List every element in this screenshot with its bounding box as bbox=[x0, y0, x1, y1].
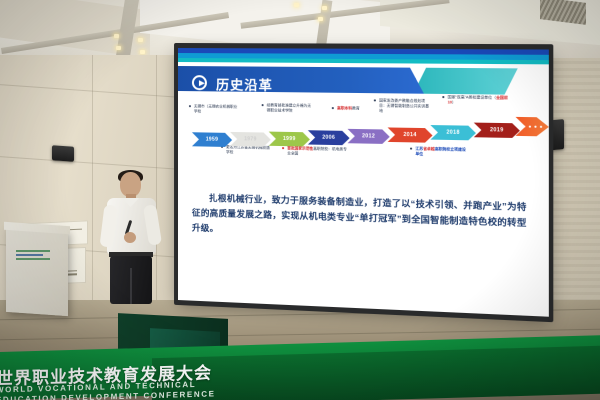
timeline-note-2019: 国家“双高”A类校建设单位（全国前10） bbox=[448, 95, 516, 107]
timeline-chevron-1959: 1959 bbox=[192, 132, 232, 147]
timeline: 无锡市（无锡农业机械职业学校 经教育部批准建立升格为无锡职业技术学院 高职本科教… bbox=[186, 102, 540, 166]
ceiling-light bbox=[138, 38, 143, 42]
timeline-chevron-2018: 2018 bbox=[430, 125, 476, 140]
conference-room-photo: 历史沿革 无锡市（无锡农业机械职业学校 经教育部批准建立升格为无锡职业技术学院 … bbox=[0, 0, 600, 400]
timeline-note-2014: 国家发改委产教融合规划项目：无锡智能制造公共实训基地 bbox=[379, 98, 430, 115]
timeline-note-1959: 无锡市（无锡农业机械职业学校 bbox=[194, 104, 240, 115]
timeline-note-2018: 江苏省卓越高职院校立项建设单位 bbox=[415, 147, 467, 159]
ceiling-light bbox=[116, 46, 121, 50]
wall-speaker bbox=[52, 145, 74, 162]
slide-canvas: 历史沿革 无锡市（无锡农业机械职业学校 经教育部批准建立升格为无锡职业技术学院 … bbox=[178, 48, 549, 317]
timeline-chevron-2006: 2006 bbox=[308, 130, 350, 145]
timeline-note-1979: 更名为江苏省无锡机械制造学校 bbox=[226, 145, 273, 156]
timeline-chevron-2012: 2012 bbox=[347, 129, 389, 144]
ceiling-light bbox=[114, 34, 119, 38]
timeline-end-marker bbox=[516, 117, 549, 137]
speaker-hand bbox=[124, 232, 136, 243]
slide-title: 历史沿革 bbox=[216, 74, 273, 94]
slide-body-paragraph: 扎根机械行业，致力于服务装备制造业，打造了以“技术引领、并跑产业”为特征的高质量… bbox=[192, 190, 527, 246]
slide-body: 历史沿革 无锡市（无锡农业机械职业学校 经教育部批准建立升格为无锡职业技术学院 … bbox=[178, 62, 549, 317]
ceiling-light bbox=[294, 3, 299, 7]
slide-title-bar: 历史沿革 bbox=[178, 66, 424, 94]
timeline-note-2006: 首批国家示范性高职院校：机电类专业全国 bbox=[287, 146, 347, 158]
speaker-leg-split bbox=[130, 268, 132, 304]
timeline-note-1999: 经教育部批准建立升格为无锡职业技术学院 bbox=[267, 103, 314, 114]
play-circle-icon bbox=[192, 75, 207, 90]
podium-logo bbox=[16, 250, 50, 270]
ceiling-light bbox=[322, 6, 327, 10]
ceiling-light bbox=[140, 50, 145, 54]
timeline-chevron-2014: 2014 bbox=[388, 127, 433, 142]
timeline-chevron-1979: 1979 bbox=[230, 132, 271, 147]
timeline-chevron-1999: 1999 bbox=[269, 132, 310, 147]
podium bbox=[6, 226, 68, 316]
presentation-screen: 历史沿革 无锡市（无锡农业机械职业学校 经教育部批准建立升格为无锡职业技术学院 … bbox=[178, 48, 549, 317]
timeline-chevron-2019: 2019 bbox=[474, 123, 520, 138]
slide-title-accent bbox=[413, 68, 518, 95]
ceiling-light bbox=[318, 17, 323, 21]
speaker bbox=[100, 172, 170, 304]
